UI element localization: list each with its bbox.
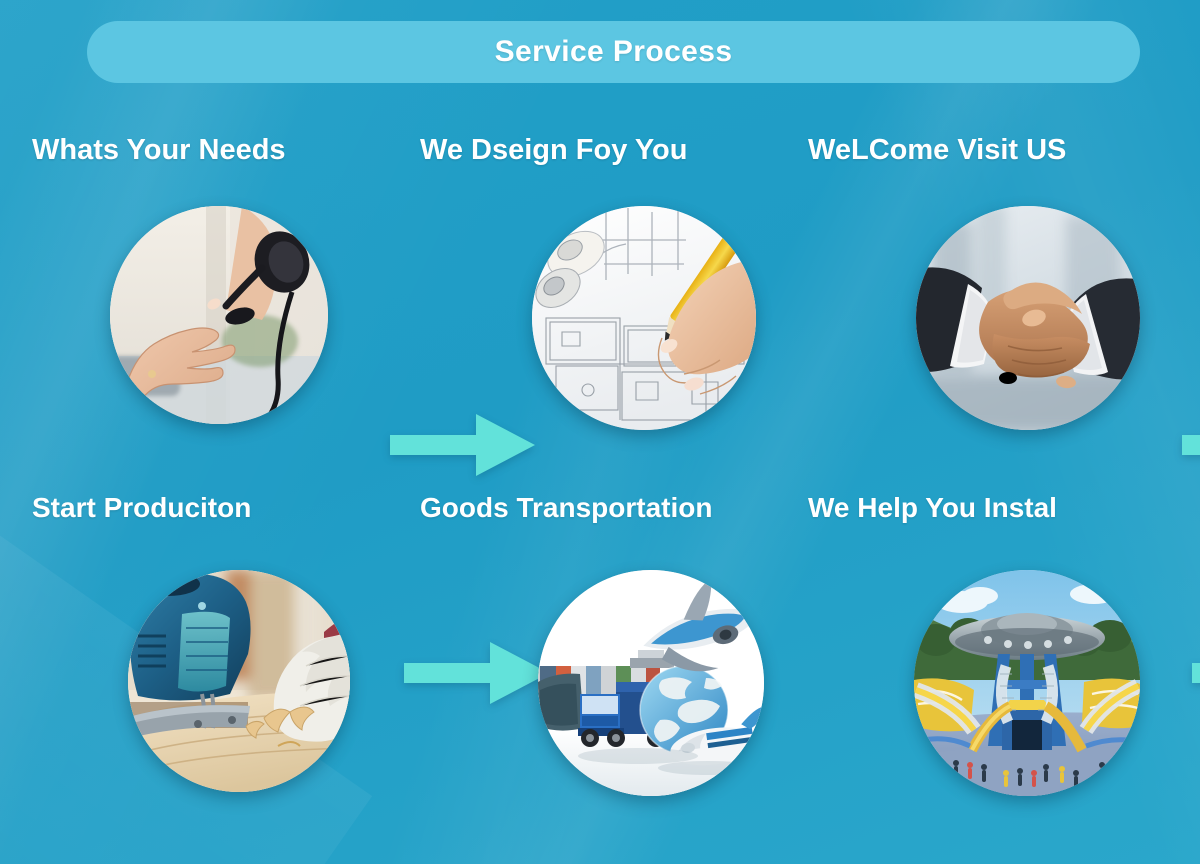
step-label-4: Start Produciton [32,492,462,524]
step-image-3 [916,206,1140,430]
logistics-transport-icon [538,570,764,796]
step-image-1 [110,206,328,424]
step-label-3: WeLCome Visit US [808,134,1200,167]
step-image-4 [128,570,350,792]
process-row-bottom: Start Produciton [0,492,1200,852]
step-label-2: We Dseign Foy You [420,134,850,167]
blueprint-pencil-icon [532,206,756,430]
handshake-icon [916,206,1140,430]
page-title: Service Process [495,35,733,69]
step-label-6: We Help You Instal [808,492,1200,524]
step-label-5: Goods Transportation [420,492,850,524]
process-row-top: Whats Your Needs [0,134,1200,494]
step-label-1: Whats Your Needs [32,134,462,167]
jigsaw-woodwork-icon [128,570,350,792]
step-image-6 [914,570,1140,796]
service-process-infographic: Service Process Whats Your Needs [0,0,1200,864]
process-step-4: Start Produciton [32,492,412,852]
arrow-step5-to-step6 [1192,640,1200,706]
installed-playground-icon [914,570,1140,796]
process-step-1: Whats Your Needs [32,134,412,494]
step-image-5 [538,570,764,796]
process-step-5: Goods Transportation [420,492,800,852]
customer-service-headset-icon [110,206,328,424]
process-step-6: We Help You Instal [808,492,1188,852]
header-banner: Service Process [87,21,1140,83]
process-step-2: We Dseign Foy You [420,134,800,494]
step-image-2 [532,206,756,430]
process-step-3: WeLCome Visit US [808,134,1188,494]
